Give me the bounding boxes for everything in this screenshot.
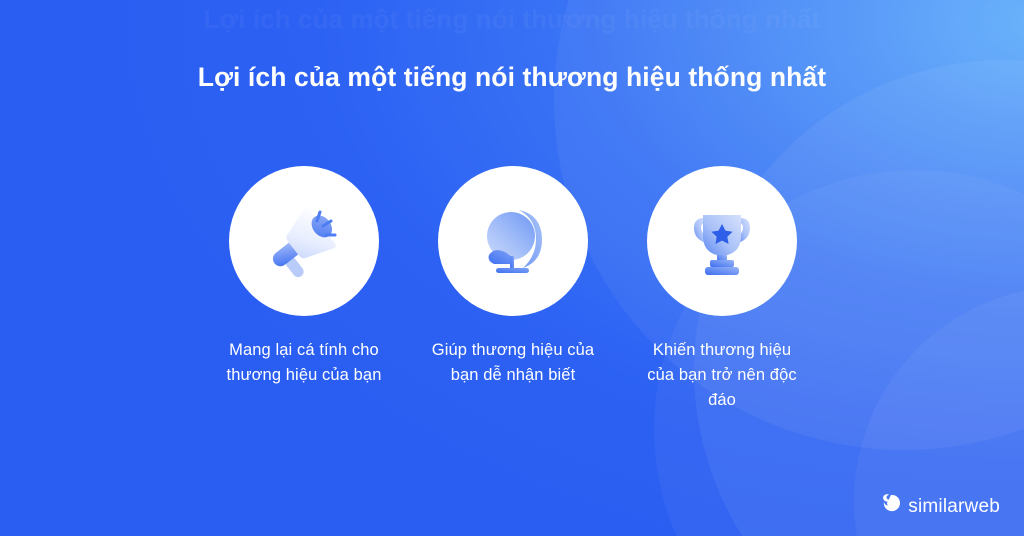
icon-circle: [647, 166, 797, 316]
benefit-card: Khiến thương hiệu của bạn trở nên độc đá…: [646, 166, 798, 413]
icon-circle: [438, 166, 588, 316]
page-title: Lợi ích của một tiếng nói thương hiệu th…: [0, 62, 1024, 93]
benefit-card: Giúp thương hiệu của bạn dễ nhận biết: [437, 166, 589, 413]
ghost-title-watermark: Lợi ích của một tiếng nói thương hiệu th…: [0, 4, 1024, 35]
benefit-caption: Khiến thương hiệu của bạn trở nên độc đá…: [640, 338, 805, 413]
trophy-icon: [679, 198, 765, 284]
benefit-caption: Mang lại cá tính cho thương hiệu của bạn: [222, 338, 387, 388]
benefit-card-list: Mang lại cá tính cho thương hiệu của bạn: [228, 166, 798, 413]
globe-icon: [470, 198, 556, 284]
benefit-card: Mang lại cá tính cho thương hiệu của bạn: [228, 166, 380, 413]
benefit-caption: Giúp thương hiệu của bạn dễ nhận biết: [431, 338, 596, 388]
icon-circle: [229, 166, 379, 316]
similarweb-wordmark: similarweb: [908, 496, 1000, 518]
megaphone-icon: [261, 198, 347, 284]
similarweb-logo: similarweb: [880, 494, 1000, 520]
similarweb-swirl-icon: [880, 494, 901, 520]
brand-voice-banner: Lợi ích của một tiếng nói thương hiệu th…: [0, 0, 1024, 536]
